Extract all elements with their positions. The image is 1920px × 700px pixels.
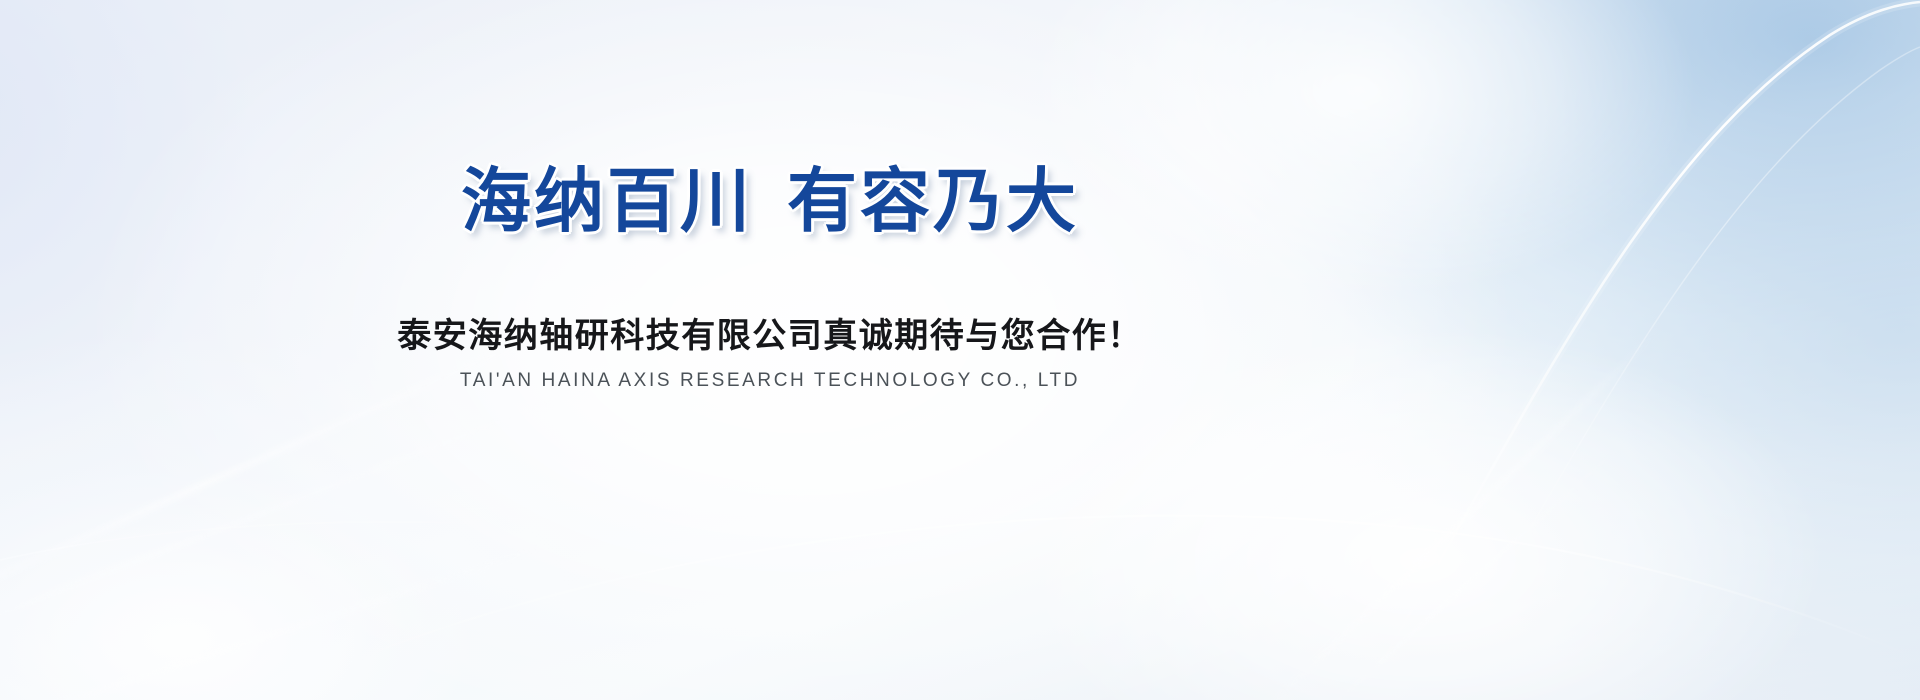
headline-part-1: 海纳百川 — [461, 162, 753, 240]
banner-content: 海纳百川有容乃大 泰安海纳轴研科技有限公司真诚期待与您合作！ TAI'AN HA… — [0, 0, 1540, 700]
headline-part-2: 有容乃大 — [787, 162, 1079, 240]
banner-subtitle-english: TAI'AN HAINA AXIS RESEARCH TECHNOLOGY CO… — [460, 370, 1080, 392]
banner-headline: 海纳百川有容乃大 — [461, 166, 1079, 236]
banner-subtitle-chinese: 泰安海纳轴研科技有限公司真诚期待与您合作！ — [397, 308, 1143, 357]
promo-banner: 海纳百川有容乃大 泰安海纳轴研科技有限公司真诚期待与您合作！ TAI'AN HA… — [0, 0, 1920, 700]
